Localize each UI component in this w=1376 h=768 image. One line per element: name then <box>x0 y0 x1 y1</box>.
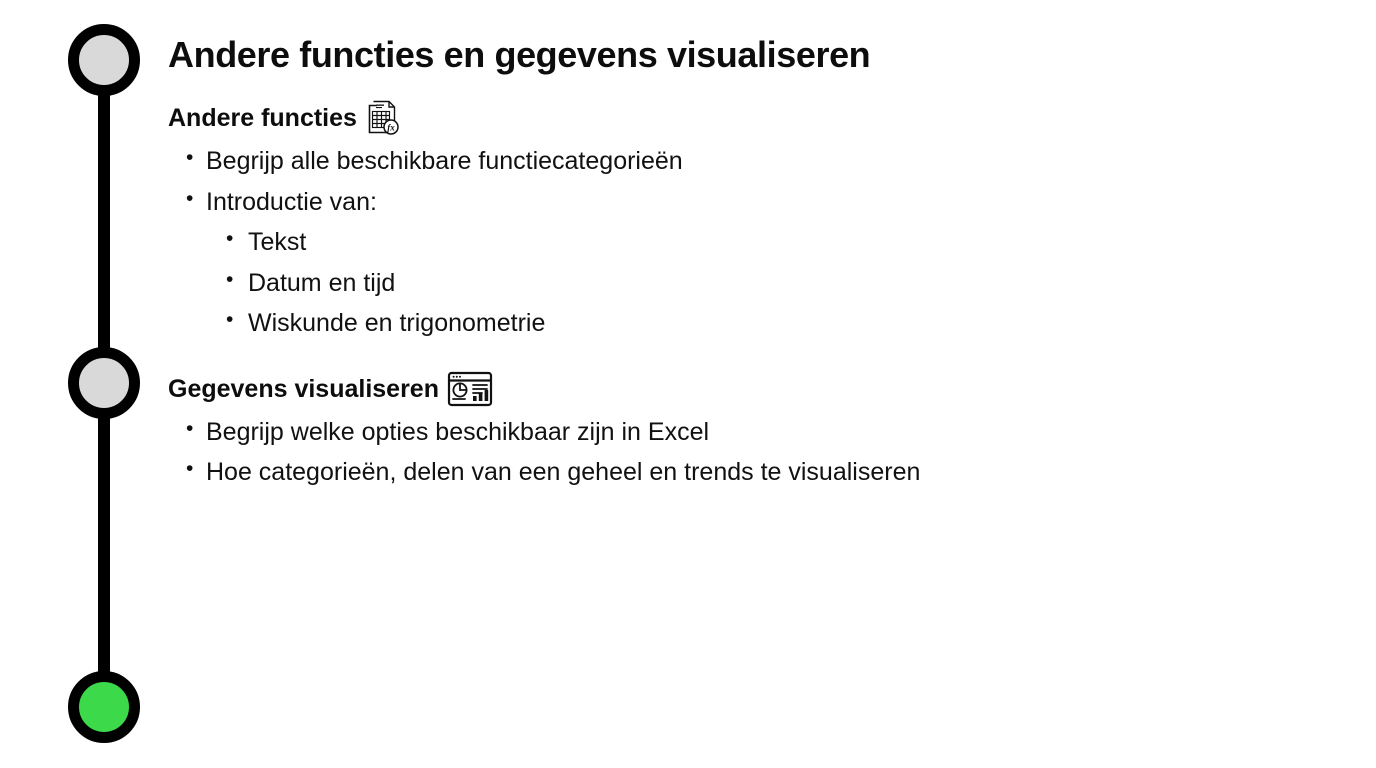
list-item: Datum en tijd <box>168 263 1268 304</box>
list-item: Hoe categorieën, delen van een geheel en… <box>168 452 1006 493</box>
section-gegevens-visualiseren: Gegevens visualiseren <box>168 370 1268 493</box>
sub-bullet-text: Tekst <box>248 228 306 256</box>
section-heading-label: Andere functies <box>168 103 357 133</box>
page-title: Andere functies en gegevens visualiseren <box>168 32 1268 77</box>
list-item: Begrijp welke opties beschikbaar zijn in… <box>168 412 1006 453</box>
bullet-list: Begrijp alle beschikbare functiecategori… <box>168 141 1268 222</box>
sub-bullet-text: Datum en tijd <box>248 269 395 297</box>
bullet-text: Hoe categorieën, delen van een geheel en… <box>206 458 920 486</box>
timeline-rail <box>68 0 140 768</box>
svg-text:fx: fx <box>387 122 395 132</box>
slide-canvas: Andere functies en gegevens visualiseren… <box>0 0 1376 768</box>
list-item: Tekst <box>168 222 1268 263</box>
dashboard-chart-icon <box>447 370 493 408</box>
section-heading-row: Gegevens visualiseren <box>168 370 1268 408</box>
timeline-node-bottom-active[interactable] <box>68 671 140 743</box>
sub-bullet-text: Wiskunde en trigonometrie <box>248 309 545 337</box>
list-item: Introductie van: <box>168 182 1006 223</box>
bullet-text: Begrijp welke opties beschikbaar zijn in… <box>206 418 709 446</box>
sub-bullet-list: Tekst Datum en tijd Wiskunde en trigonom… <box>168 222 1268 344</box>
bullet-list: Begrijp welke opties beschikbaar zijn in… <box>168 412 1268 493</box>
timeline-node-top[interactable] <box>68 24 140 96</box>
section-heading-row: Andere functies <box>168 99 1268 137</box>
slide-content: Andere functies en gegevens visualiseren… <box>168 32 1268 499</box>
spreadsheet-function-icon: fx <box>365 99 401 137</box>
list-item: Wiskunde en trigonometrie <box>168 303 1268 344</box>
bullet-text: Begrijp alle beschikbare functiecategori… <box>206 147 683 175</box>
timeline-node-middle[interactable] <box>68 347 140 419</box>
section-heading-label: Gegevens visualiseren <box>168 374 439 404</box>
section-andere-functies: Andere functies <box>168 99 1268 344</box>
bullet-text: Introductie van: <box>206 188 377 216</box>
list-item: Begrijp alle beschikbare functiecategori… <box>168 141 1006 182</box>
